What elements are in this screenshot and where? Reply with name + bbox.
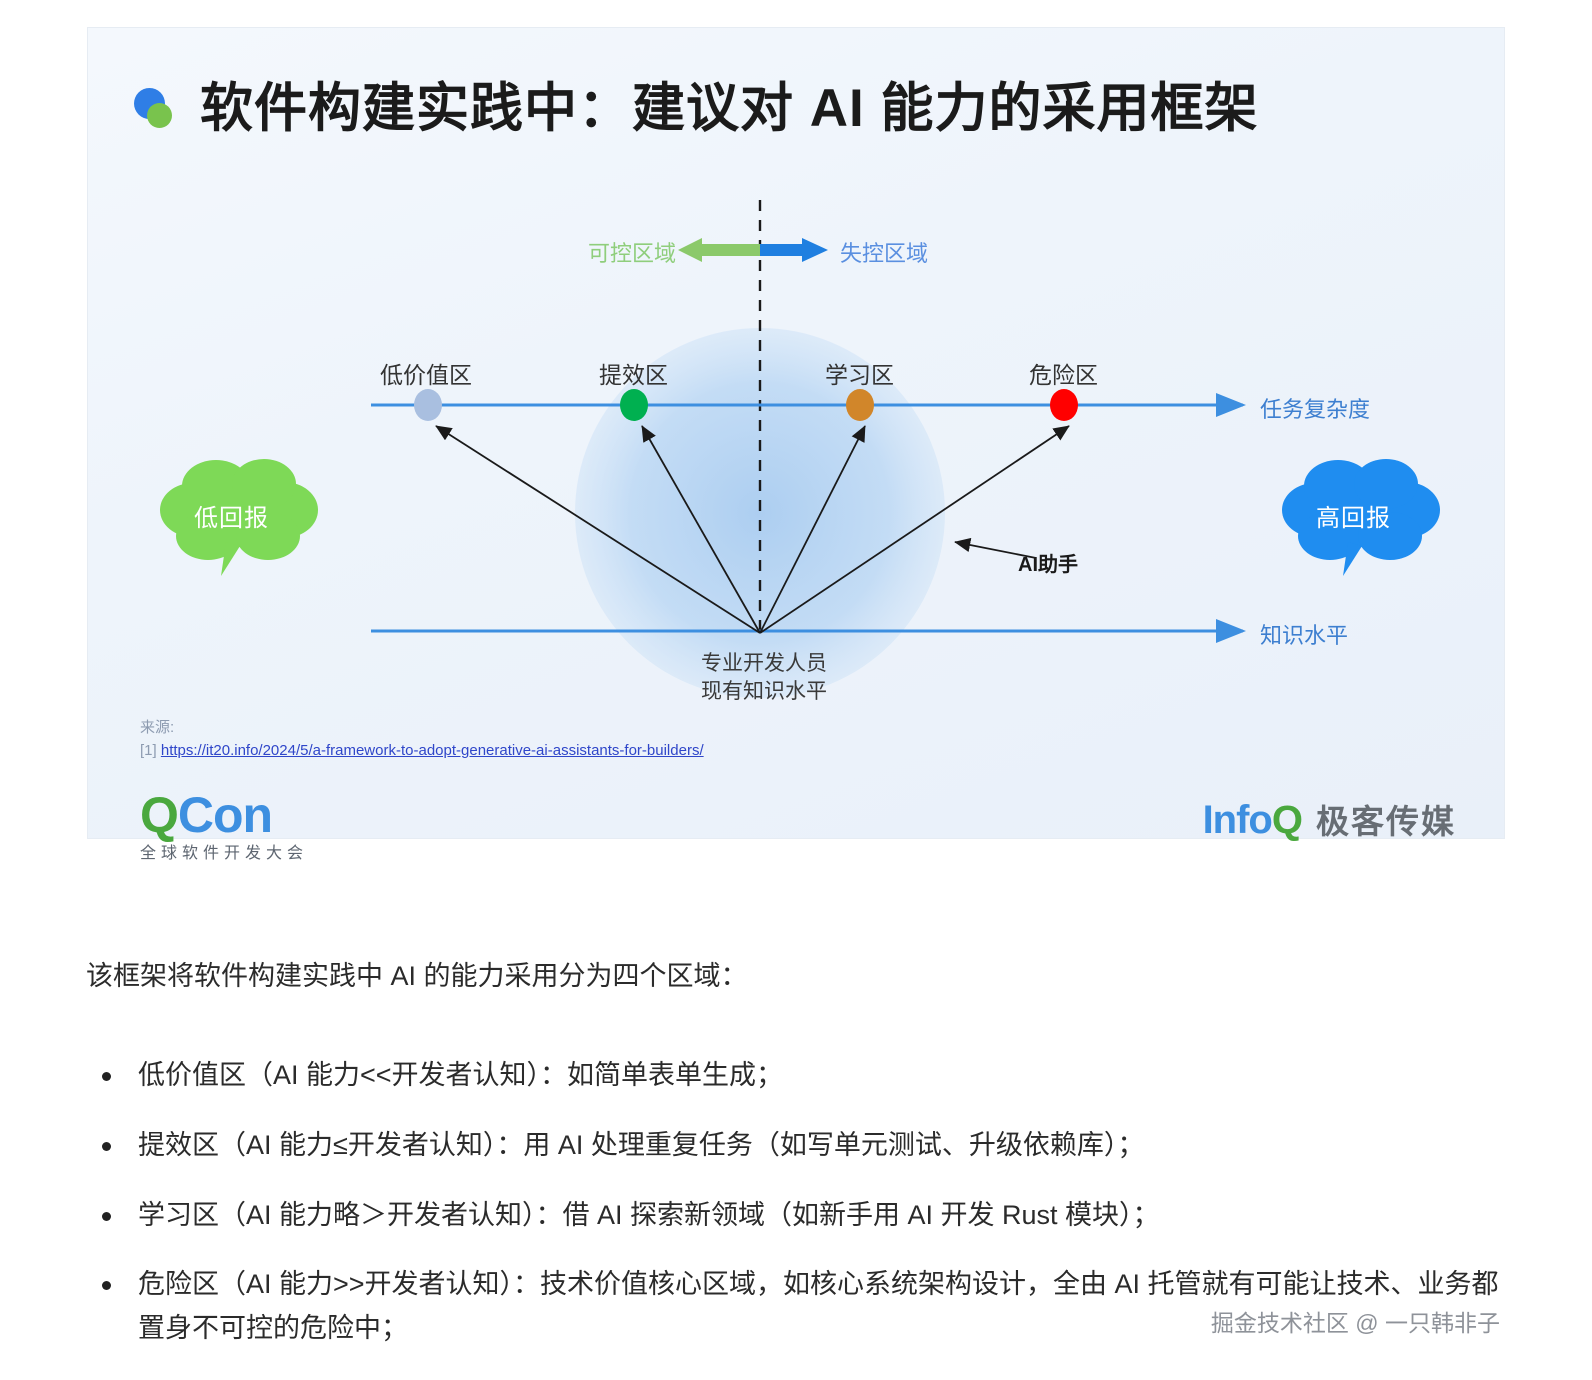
qcon-wordmark: QCon bbox=[140, 790, 308, 840]
source-heading: 来源: bbox=[140, 716, 704, 739]
two-dots-logo-icon bbox=[132, 86, 178, 132]
list-item: 提效区（AI 能力≤开发者认知）：用 AI 处理重复任务（如写单元测试、升级依赖… bbox=[86, 1124, 1516, 1168]
origin-label-line2: 现有知识水平 bbox=[684, 678, 844, 706]
zone-dot-low-value[interactable] bbox=[414, 389, 442, 421]
source-url-link[interactable]: https://it20.info/2024/5/a-framework-to-… bbox=[161, 742, 704, 759]
adoption-framework-diagram: 可控区域 失控区域 低价值区 提效区 学习区 危险区 任务复杂度 知识水平 低回… bbox=[88, 138, 1504, 718]
logo-dot-green bbox=[147, 103, 172, 128]
controllable-direction-label: 可控区域 bbox=[588, 236, 676, 268]
qcon-letter-q: Q bbox=[140, 787, 178, 843]
low-return-label: 低回报 bbox=[194, 498, 269, 533]
infoq-wordmark: InfoQ bbox=[1203, 800, 1302, 840]
zone-label-low-value: 低价值区 bbox=[380, 356, 472, 390]
source-index: [1] bbox=[140, 742, 157, 759]
origin-label: 专业开发人员 现有知识水平 bbox=[684, 650, 844, 707]
axis-label-task-complexity: 任务复杂度 bbox=[1260, 392, 1370, 424]
slide-card: 软件构建实践中：建议对 AI 能力的采用框架 bbox=[88, 28, 1504, 838]
zone-dot-danger[interactable] bbox=[1050, 389, 1078, 421]
ai-assistant-label: AI助手 bbox=[1018, 548, 1078, 577]
infoq-letter-q: Q bbox=[1272, 798, 1302, 842]
qcon-letters-con: Con bbox=[178, 787, 272, 843]
zone-label-danger: 危险区 bbox=[1029, 356, 1098, 390]
qcon-subtitle: 全球软件开发大会 bbox=[140, 846, 308, 862]
uncontrollable-direction-label: 失控区域 bbox=[840, 236, 928, 268]
source-citation: 来源: [1] https://it20.info/2024/5/a-frame… bbox=[140, 716, 704, 763]
list-item: 低价值区（AI 能力<<开发者认知）：如简单表单生成； bbox=[86, 1054, 1516, 1098]
list-item: 学习区（AI 能力略＞开发者认知）：借 AI 探索新领域（如新手用 AI 开发 … bbox=[86, 1194, 1516, 1238]
infoq-subtitle: 极客传媒 bbox=[1316, 805, 1456, 838]
zone-dot-efficiency[interactable] bbox=[620, 389, 648, 421]
uncontrollable-arrow-blue bbox=[760, 238, 828, 262]
qcon-logo: QCon 全球软件开发大会 bbox=[140, 790, 308, 862]
axis-label-knowledge-level: 知识水平 bbox=[1260, 618, 1348, 650]
infoq-logo: InfoQ 极客传媒 bbox=[1203, 800, 1456, 840]
slide-title-row: 软件构建实践中：建议对 AI 能力的采用框架 bbox=[132, 80, 1258, 138]
zone-label-learning: 学习区 bbox=[825, 356, 894, 390]
watermark: 掘金技术社区 @ 一只韩非子 bbox=[1211, 1304, 1500, 1338]
zone-dot-learning[interactable] bbox=[846, 389, 874, 421]
zone-label-efficiency: 提效区 bbox=[599, 356, 668, 390]
high-return-label: 高回报 bbox=[1316, 498, 1391, 533]
infoq-letters-info: Info bbox=[1203, 798, 1272, 842]
origin-label-line1: 专业开发人员 bbox=[684, 650, 844, 678]
source-line: [1] https://it20.info/2024/5/a-framework… bbox=[140, 739, 704, 762]
intro-paragraph: 该框架将软件构建实践中 AI 的能力采用分为四个区域： bbox=[86, 955, 1516, 998]
slide-title: 软件构建实践中：建议对 AI 能力的采用框架 bbox=[200, 80, 1258, 138]
controllable-arrow-green bbox=[678, 238, 760, 262]
